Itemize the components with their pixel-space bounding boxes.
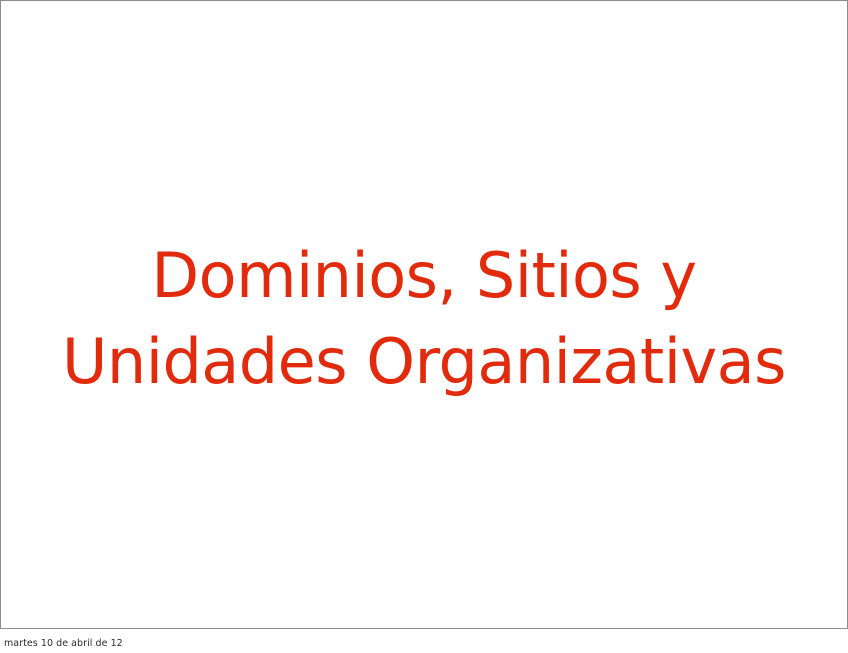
footer-date-text: martes 10 de abril de 12 bbox=[4, 638, 123, 650]
slide-canvas: Dominios, Sitios y Unidades Organizativa… bbox=[0, 0, 848, 629]
slide-title-line-1: Dominios, Sitios y bbox=[25, 233, 823, 319]
slide-title: Dominios, Sitios y Unidades Organizativa… bbox=[1, 233, 847, 405]
slide-title-line-2: Unidades Organizativas bbox=[25, 319, 823, 405]
presentation-page: Dominios, Sitios y Unidades Organizativa… bbox=[0, 0, 848, 653]
slide-footer: martes 10 de abril de 12 bbox=[4, 634, 123, 653]
